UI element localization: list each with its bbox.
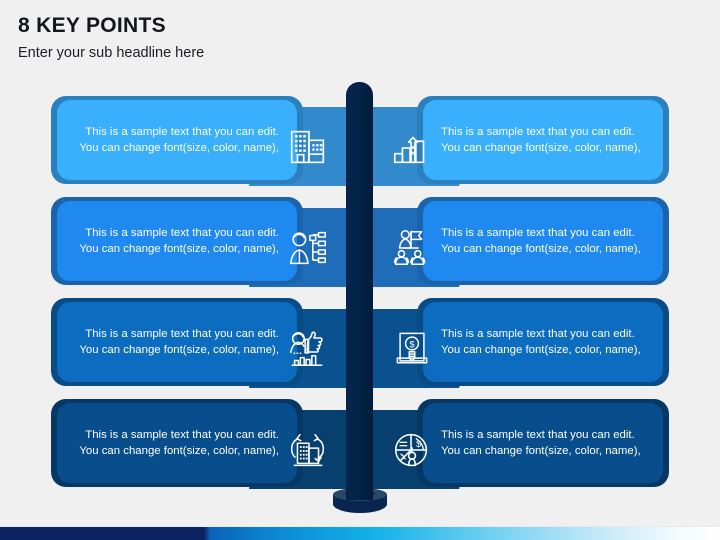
item-6-text: This is a sample text that you can edit.… [441, 326, 649, 358]
item-7-text: This is a sample text that you can edit.… [71, 427, 279, 459]
leadership-flag-team-icon [389, 225, 435, 271]
item-8-text-bubble[interactable]: This is a sample text that you can edit.… [423, 403, 663, 483]
key-point-item-4[interactable]: This is a sample text that you can edit.… [353, 201, 663, 287]
pie-chart-dollar-icon: $ [389, 427, 435, 473]
key-point-item-3[interactable]: This is a sample text that you can edit.… [57, 201, 367, 287]
item-6-text-bubble[interactable]: This is a sample text that you can edit.… [423, 302, 663, 382]
page-title: 8 KEY POINTS [18, 14, 518, 37]
bottom-accent-bar [0, 527, 720, 540]
building-recycle-cycle-icon [285, 427, 331, 473]
page-subtitle: Enter your sub headline here [18, 46, 518, 62]
item-3-text-bubble[interactable]: This is a sample text that you can edit.… [57, 201, 297, 281]
item-4-text-bubble[interactable]: This is a sample text that you can edit.… [423, 201, 663, 281]
person-org-chart-icon [285, 225, 331, 271]
key-point-item-8[interactable]: $ This is a sample text that you can edi… [353, 403, 663, 489]
growth-bar-chart-arrow-icon [389, 124, 435, 170]
header: 8 KEY POINTS Enter your sub headline her… [18, 14, 518, 62]
item-8-text: This is a sample text that you can edit.… [441, 427, 649, 459]
item-1-text-bubble[interactable]: This is a sample text that you can edit.… [57, 100, 297, 180]
item-2-text-bubble[interactable]: This is a sample text that you can edit.… [423, 100, 663, 180]
key-point-item-6[interactable]: $ This is a sample text that you can edi… [353, 302, 663, 388]
center-pole [346, 82, 373, 500]
item-3-text: This is a sample text that you can edit.… [71, 225, 279, 257]
item-1-text: This is a sample text that you can edit.… [71, 124, 279, 156]
person-thumbs-up-chart-icon [285, 326, 331, 372]
item-4-text: This is a sample text that you can edit.… [441, 225, 649, 257]
key-point-item-7[interactable]: This is a sample text that you can edit.… [57, 403, 367, 489]
slide-canvas: 8 KEY POINTS Enter your sub headline her… [0, 0, 720, 540]
key-point-item-2[interactable]: This is a sample text that you can edit.… [353, 100, 663, 186]
office-building-icon [285, 124, 331, 170]
item-5-text: This is a sample text that you can edit.… [71, 326, 279, 358]
key-point-item-5[interactable]: This is a sample text that you can edit.… [57, 302, 367, 388]
money-idea-document-icon: $ [390, 327, 434, 371]
svg-text:$: $ [409, 339, 414, 349]
item-2-text: This is a sample text that you can edit.… [441, 124, 649, 156]
item-5-text-bubble[interactable]: This is a sample text that you can edit.… [57, 302, 297, 382]
item-7-text-bubble[interactable]: This is a sample text that you can edit.… [57, 403, 297, 483]
key-point-item-1[interactable]: This is a sample text that you can edit.… [57, 100, 367, 186]
svg-text:$: $ [416, 439, 421, 449]
